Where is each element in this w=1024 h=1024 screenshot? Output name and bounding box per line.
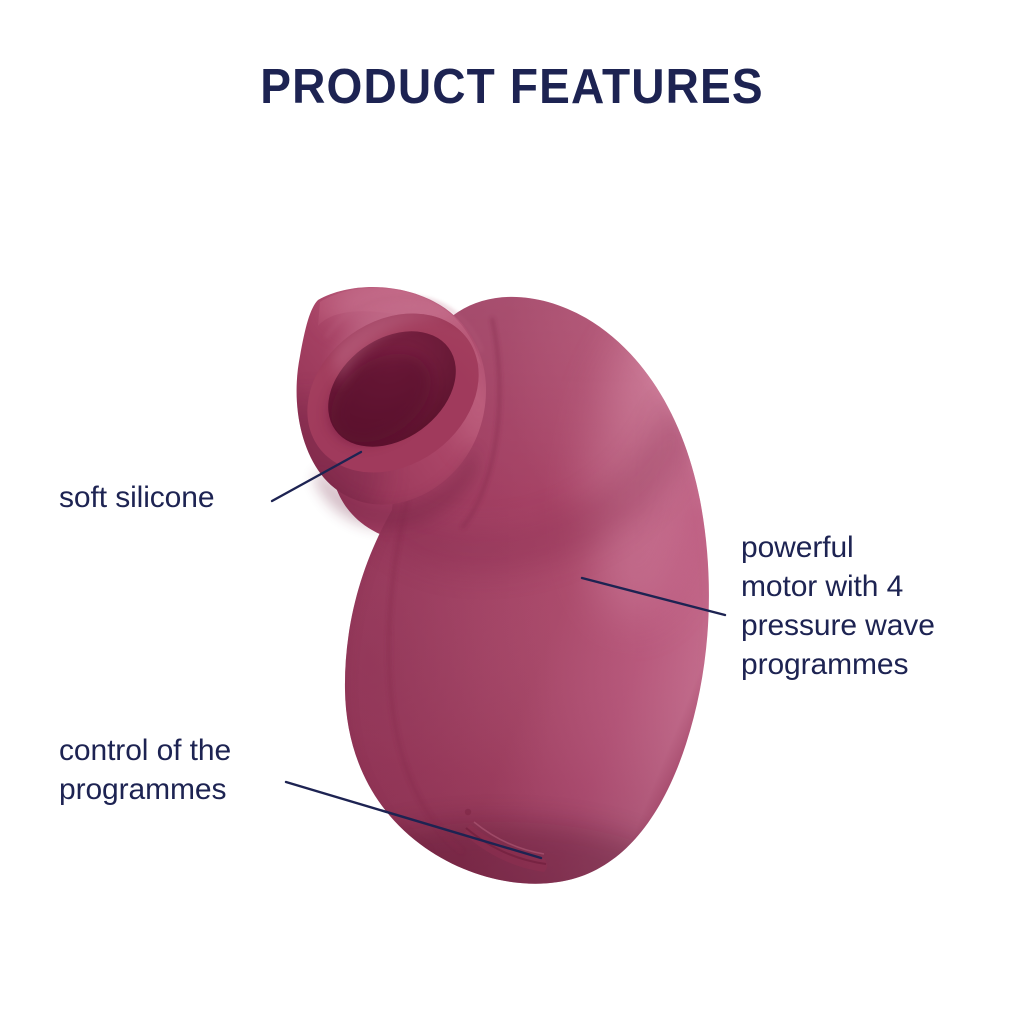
callout-powerful-motor: powerful motor with 4 pressure wave prog… <box>741 528 935 684</box>
control-button-dot[interactable] <box>465 809 471 815</box>
callout-soft-silicone: soft silicone <box>59 478 214 517</box>
callout-control-of-the-programmes: control of the programmes <box>59 731 231 809</box>
product-features-figure: PRODUCT FEATURES <box>0 0 1024 1024</box>
device-body <box>242 250 762 938</box>
